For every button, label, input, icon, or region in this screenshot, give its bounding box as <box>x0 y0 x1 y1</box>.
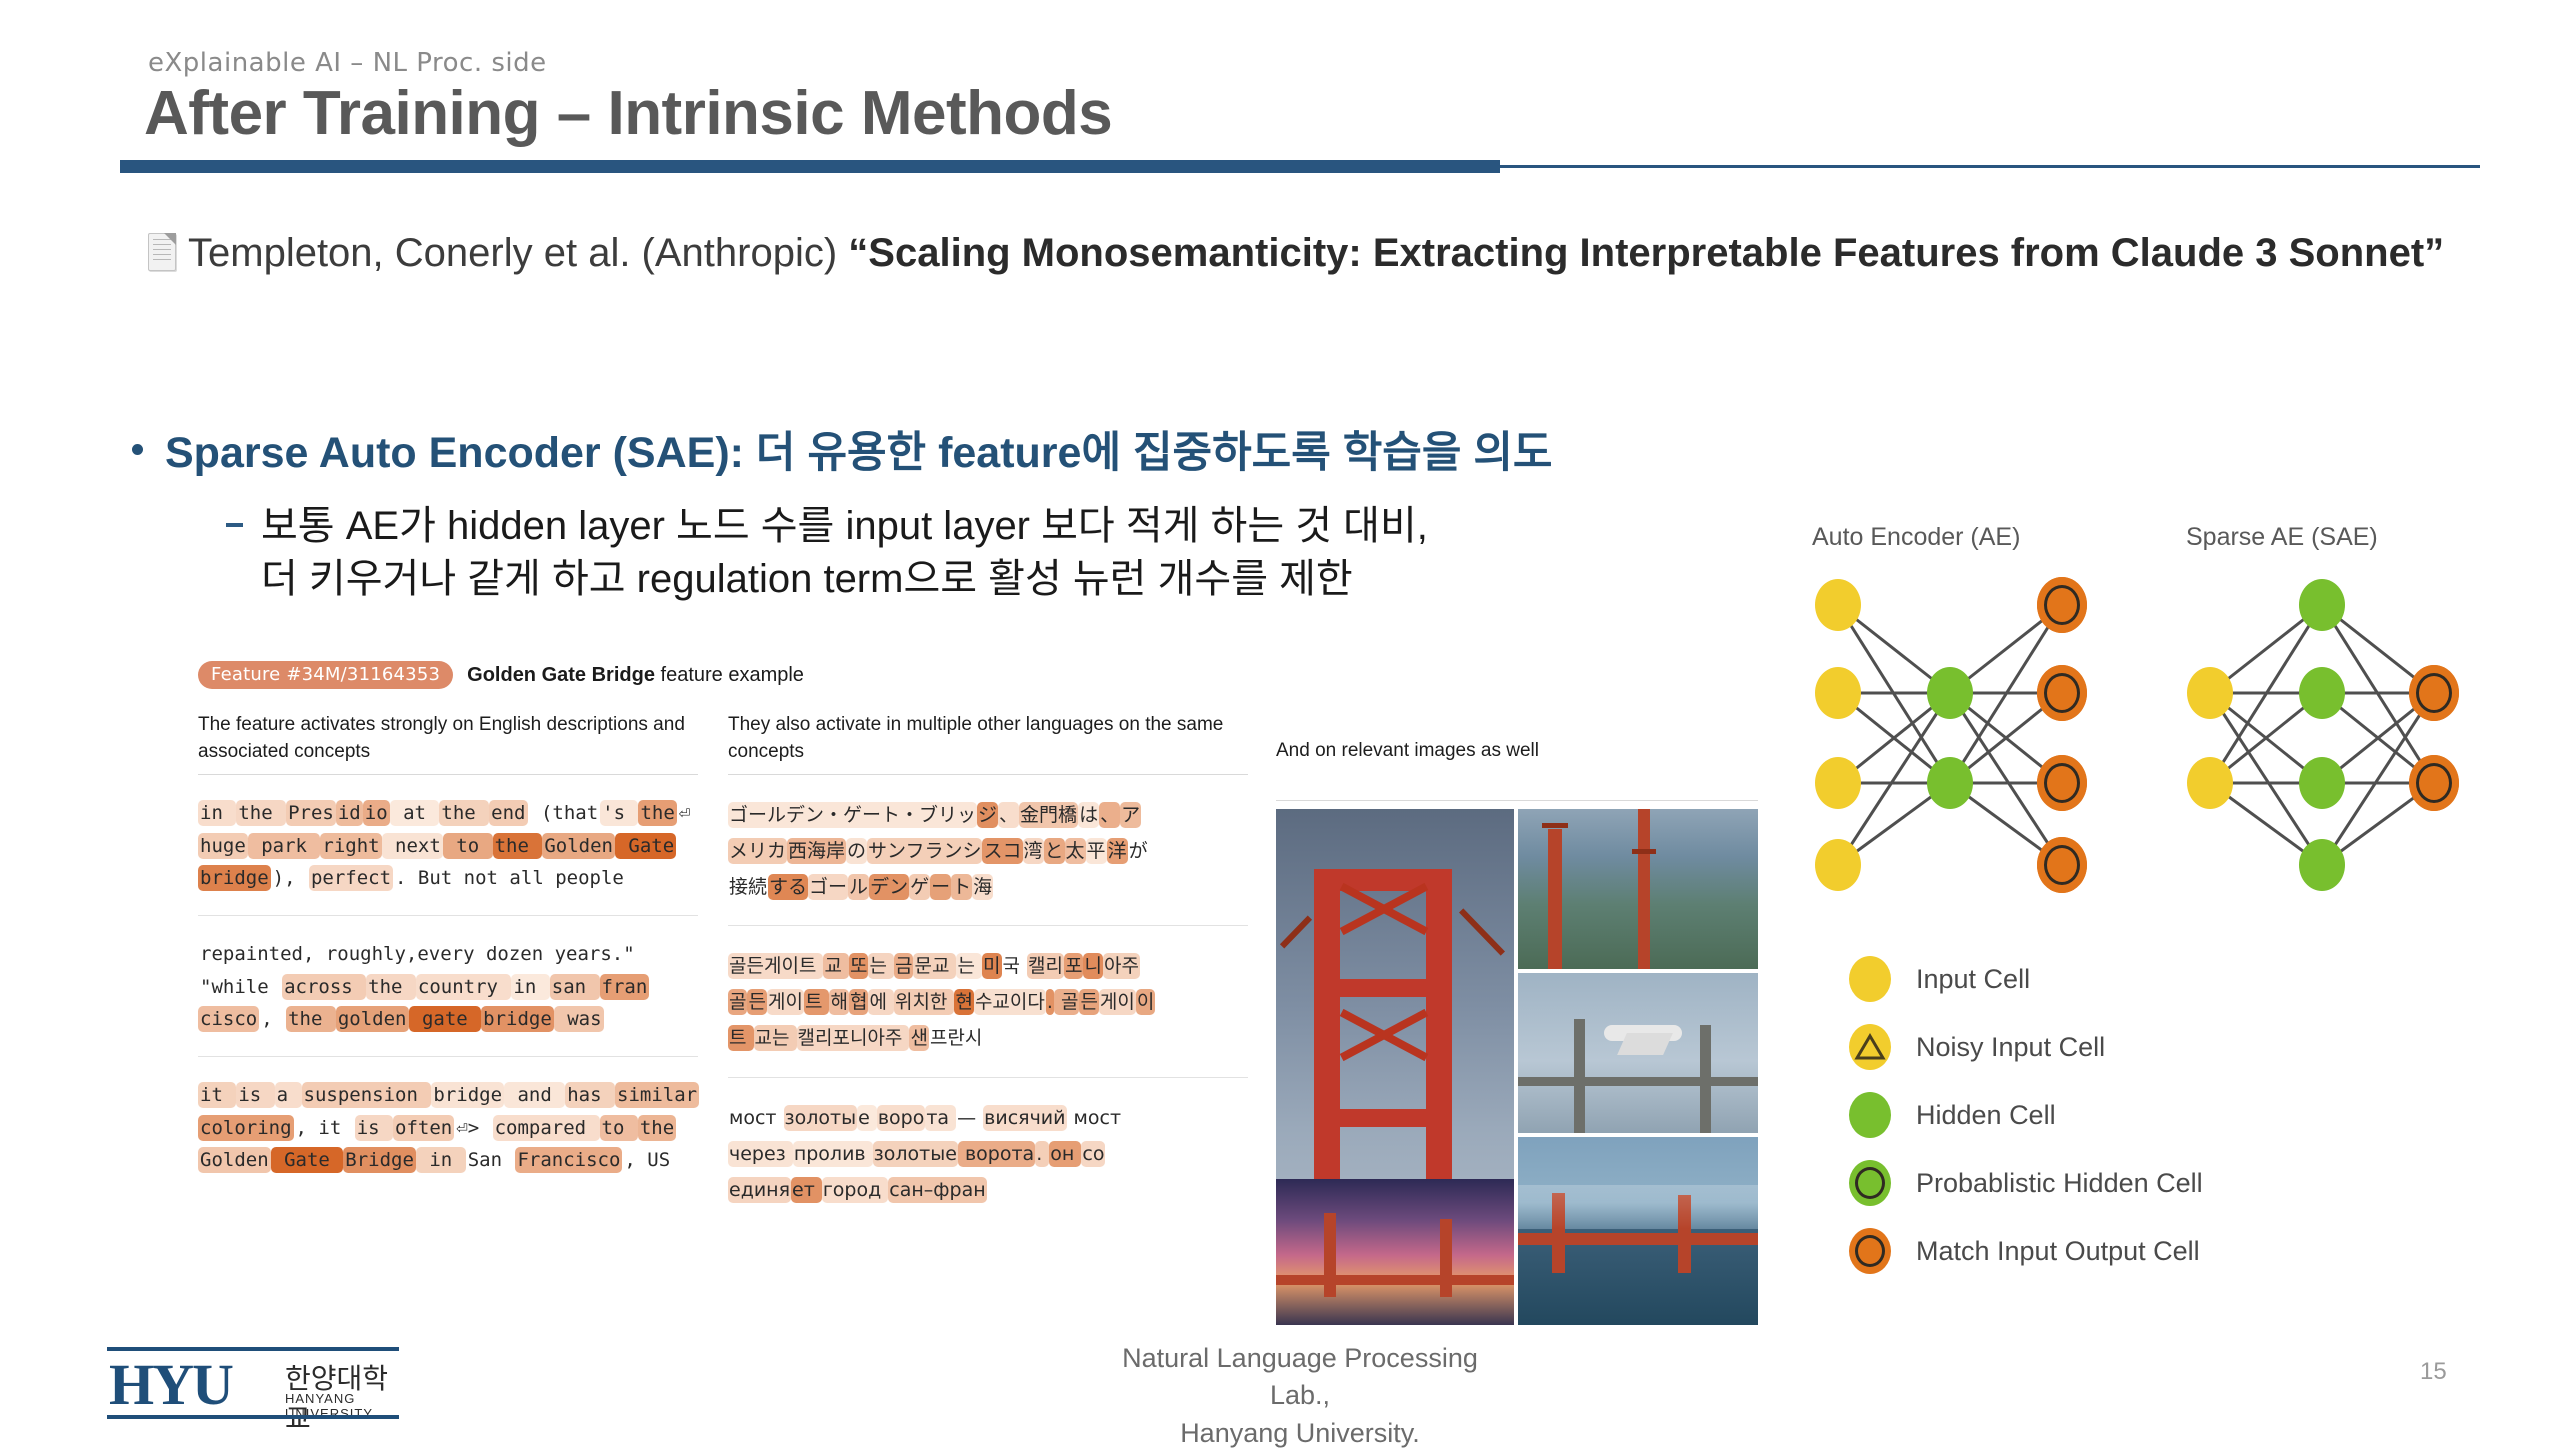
activation-token: 국 <box>1002 953 1028 979</box>
activation-token: san <box>550 974 600 1000</box>
text-line: coloring, it is often⏎> compared to the <box>198 1112 698 1145</box>
activation-token: it <box>198 1082 236 1108</box>
activation-token: 든 <box>1079 989 1098 1015</box>
text-line: 接続するゴールデンゲート海 <box>728 869 1248 905</box>
footer-lab-name: Natural Language Processing Lab., Hanyan… <box>1100 1340 1500 1452</box>
activation-token: fran <box>600 974 650 1000</box>
activation-token: the <box>286 1006 336 1032</box>
column-images: And on relevant images as well <box>1276 712 1758 1325</box>
divider <box>1276 800 1758 801</box>
activation-token: через <box>728 1141 793 1167</box>
activation-token: bridge <box>481 1006 554 1032</box>
ae-output-node <box>2037 665 2087 721</box>
activation-token: Gate <box>615 833 676 859</box>
bullet-level2-line2: 더 키우거나 같게 하고 regulation term으로 활성 뉴런 개수를… <box>261 553 1428 606</box>
sae-output-node <box>2409 665 2459 721</box>
legend-label: Input Cell <box>1916 964 2030 995</box>
citation-authors: Templeton, Conerly et al. (Anthropic) <box>188 231 848 275</box>
ae-network <box>1790 565 2120 895</box>
activation-token: е <box>857 1105 877 1131</box>
legend-label: Match Input Output Cell <box>1916 1236 2200 1267</box>
activation-token: ア <box>1120 802 1141 828</box>
activation-token: мост <box>728 1105 784 1131</box>
activation-token: , US <box>622 1147 672 1173</box>
activation-token: ル <box>848 874 869 900</box>
text-sample: ゴールデン・ゲート・ブリッジ、金門橋は、アメリカ西海岸のサンフランシスコ湾と太平… <box>728 775 1248 926</box>
activation-token: デン <box>869 874 909 900</box>
header-rule-thin <box>1500 165 2480 168</box>
activation-token: 平 <box>1086 838 1107 864</box>
activation-token: Golden <box>198 1147 271 1173</box>
legend-row: Probablistic Hidden Cell <box>1842 1149 2203 1217</box>
column-images-heading: And on relevant images as well <box>1276 712 1758 794</box>
activation-token: 캘리 <box>1027 953 1064 979</box>
activation-token: ⏎ <box>677 800 692 826</box>
text-sample: мост золотые ворота — висячий мостчерез … <box>728 1078 1248 1228</box>
activation-token: and <box>504 1082 565 1108</box>
footer-line-2: Hanyang University. <box>1100 1415 1500 1452</box>
activation-token: Pres <box>286 800 336 826</box>
ae-input-node <box>1815 579 1861 631</box>
activation-token: город <box>822 1177 888 1203</box>
slide-root: eXplainable AI – NL Proc. side After Tra… <box>0 0 2560 1440</box>
activation-token: country <box>416 974 512 1000</box>
activation-token: 아주 <box>1103 953 1140 979</box>
legend-label: Probablistic Hidden Cell <box>1916 1168 2203 1199</box>
activation-token: 太 <box>1065 838 1086 864</box>
activation-token: 교는 <box>754 1025 797 1051</box>
page-title: After Training – Intrinsic Methods <box>144 78 1112 149</box>
activation-token: was <box>554 1006 604 1032</box>
sae-hidden-node <box>2299 757 2345 809</box>
activation-token: ト <box>951 874 972 900</box>
sae-diagram-title: Sparse AE (SAE) <box>2186 523 2378 552</box>
san-francisco-bay-bridge <box>1518 1137 1758 1325</box>
legend-circle-icon <box>1842 1092 1898 1138</box>
activation-token: "while <box>198 974 282 1000</box>
activation-token: compared <box>493 1115 600 1141</box>
activation-token: 골 <box>1054 989 1080 1015</box>
activation-token: the <box>493 833 543 859</box>
feature-title-rest: feature example <box>655 664 804 686</box>
activation-token: in <box>511 974 549 1000</box>
legend-ring-icon <box>1842 1160 1898 1206</box>
text-sample: 골든게이트 교 또는 금문교 는 미국 캘리포니아주골든게이트 해협에 위치한 … <box>728 926 1248 1077</box>
legend-row: Match Input Output Cell <box>1842 1217 2203 1285</box>
sae-hidden-node <box>2299 839 2345 891</box>
activation-token: Bridge <box>343 1147 416 1173</box>
activation-token: 골든게이트 <box>728 953 823 979</box>
dash-icon <box>226 523 243 527</box>
activation-token: と <box>1044 838 1065 864</box>
ae-diagram-title: Auto Encoder (AE) <box>1812 523 2020 552</box>
activation-token: 캘리포니아주 <box>797 1025 910 1051</box>
legend-label: Hidden Cell <box>1916 1100 2056 1131</box>
header-rule-thick <box>120 160 1500 173</box>
activation-token: он <box>1049 1141 1081 1167</box>
activation-token: 위치한 <box>894 989 954 1015</box>
activation-token: right <box>320 833 381 859</box>
activation-token: at <box>390 800 440 826</box>
text-line: 골든게이트 교 또는 금문교 는 미국 캘리포니아주 <box>728 948 1248 984</box>
activation-token: 는 <box>868 953 894 979</box>
activation-token: , <box>259 1006 286 1032</box>
activation-token: 샌 <box>909 1025 928 1051</box>
activation-token: 골 <box>728 989 747 1015</box>
activation-token: — <box>956 1105 983 1131</box>
column-multilingual: They also activate in multiple other lan… <box>728 712 1248 1228</box>
page-facing-up-icon <box>146 232 178 272</box>
activation-token: 포 <box>1064 953 1083 979</box>
bullet-level2: 보통 AE가 hidden layer 노드 수를 input layer 보다… <box>226 500 1428 606</box>
column-multilingual-heading: They also activate in multiple other lan… <box>728 712 1248 768</box>
activation-token: スコ <box>982 838 1022 864</box>
activation-token: 트 <box>804 989 830 1015</box>
activation-token: golden <box>336 1006 409 1032</box>
feature-card: Feature #34M/31164353 Golden Gate Bridge… <box>198 660 1758 1332</box>
activation-token: in <box>416 1147 466 1173</box>
activation-token: bridge <box>198 865 271 891</box>
activation-token: . <box>1046 989 1054 1015</box>
activation-token: gate <box>409 1006 482 1032</box>
activation-token: 현 <box>954 989 973 1015</box>
text-sample: in the Presidio at the end (that's the⏎h… <box>198 775 698 916</box>
activation-token: золотые <box>873 1141 958 1167</box>
activation-token: 해 <box>829 989 848 1015</box>
activation-token: висячий <box>983 1105 1066 1131</box>
bullet-dot-icon <box>132 444 143 455</box>
ae-hidden-node <box>1927 667 1973 719</box>
activation-token: 는 <box>956 953 982 979</box>
activation-token: 협 <box>849 989 868 1015</box>
activation-token: пролив <box>793 1141 873 1167</box>
shuttle-over-bridge <box>1518 973 1758 1133</box>
activation-token: Golden <box>542 833 615 859</box>
english-samples: in the Presidio at the end (that's the⏎h… <box>198 775 698 1197</box>
golden-gate-aerial <box>1518 809 1758 969</box>
activation-token: to <box>600 1115 638 1141</box>
activation-token: Gate <box>271 1147 344 1173</box>
activation-token: は <box>1078 802 1099 828</box>
golden-gate-sunset <box>1276 1179 1514 1325</box>
activation-token: park <box>248 833 321 859</box>
activation-token: 교 <box>823 953 849 979</box>
activation-token: across <box>282 974 366 1000</box>
footer-line-1: Natural Language Processing Lab., <box>1100 1340 1500 1415</box>
bullet-level1-text: Sparse Auto Encoder (SAE): 더 유용한 feature… <box>165 429 1552 477</box>
bullet-level2-line1: 보통 AE가 hidden layer 노드 수를 input layer 보다… <box>261 504 1428 548</box>
legend-row: Input Cell <box>1842 945 2203 1013</box>
sae-output-node <box>2409 755 2459 811</box>
text-line: repainted, roughly,every dozen years." <box>198 938 698 971</box>
column-english: The feature activates strongly on Englis… <box>198 712 698 1197</box>
sae-input-node <box>2187 757 2233 809</box>
ae-hidden-node <box>1927 757 1973 809</box>
activation-token: a <box>275 1082 302 1108</box>
activation-token: 게이 <box>767 989 804 1015</box>
activation-token: next <box>382 833 443 859</box>
activation-token: the <box>236 800 286 826</box>
activation-token: воро <box>877 1105 926 1131</box>
activation-token: サンフランシ <box>867 838 982 864</box>
activation-token: единя <box>728 1177 791 1203</box>
activation-token: io <box>363 800 390 826</box>
activation-token: ), <box>271 865 309 891</box>
activation-token: Francisco <box>515 1147 622 1173</box>
activation-token: . But not all people <box>393 865 626 891</box>
activation-token: сан–фран <box>888 1177 986 1203</box>
autoencoder-diagram: Auto Encoder (AE) Sparse AE (SAE) <box>1790 505 2510 1305</box>
activation-token: 수교이다 <box>974 989 1046 1015</box>
diagram-legend: Input CellNoisy Input CellHidden CellPro… <box>1842 945 2203 1285</box>
activation-token: is <box>355 1115 393 1141</box>
activation-token: 게이 <box>1099 989 1136 1015</box>
legend-row: Noisy Input Cell <box>1842 1013 2203 1081</box>
activation-token: has <box>565 1082 615 1108</box>
hyu-logo-text: HYU <box>109 1351 232 1418</box>
text-line: 골든게이트 해협에 위치한 현수교이다. 골든게이이 <box>728 984 1248 1020</box>
activation-token: . <box>1035 1141 1049 1167</box>
activation-token: in <box>198 800 236 826</box>
activation-token: 에 <box>868 989 894 1015</box>
activation-token: 接続 <box>728 874 768 900</box>
citation-line: Templeton, Conerly et al. (Anthropic) “S… <box>146 228 2476 279</box>
activation-token: мост <box>1067 1105 1123 1131</box>
activation-token: 또 <box>849 953 868 979</box>
activation-token: 트 <box>728 1025 754 1051</box>
activation-token: suspension <box>302 1082 432 1108</box>
ae-input-node <box>1815 839 1861 891</box>
activation-token: ー <box>930 874 951 900</box>
slide-kicker: eXplainable AI – NL Proc. side <box>148 48 547 78</box>
text-line: 트 교는 캘리포니아주 샌프란시 <box>728 1020 1248 1056</box>
activation-token: 湾 <box>1023 838 1044 864</box>
legend-row: Hidden Cell <box>1842 1081 2203 1149</box>
activation-token: ⏎> <box>454 1115 492 1141</box>
activation-token: perfect <box>309 865 393 891</box>
ae-input-node <box>1815 757 1861 809</box>
activation-token: 洋 <box>1107 838 1128 864</box>
ae-input-node <box>1815 667 1861 719</box>
activation-token: が <box>1128 838 1149 864</box>
activation-token: 문교 <box>913 953 956 979</box>
legend-triangle-icon <box>1842 1024 1898 1070</box>
activation-token: 、 <box>998 802 1019 828</box>
text-line: Golden Gate Bridge in San Francisco, US <box>198 1144 698 1177</box>
text-line: "while across the country in san fran <box>198 971 698 1004</box>
column-english-heading: The feature activates strongly on Englis… <box>198 712 698 768</box>
text-line: cisco, the golden gate bridge was <box>198 1003 698 1036</box>
image-mosaic <box>1276 809 1758 1325</box>
text-sample: it is a suspension bridge and has simila… <box>198 1057 698 1197</box>
multilingual-samples: ゴールデン・ゲート・ブリッジ、金門橋は、アメリカ西海岸のサンフランシスコ湾と太平… <box>728 775 1248 1228</box>
legend-circle-icon <box>1842 956 1898 1002</box>
feature-card-header: Feature #34M/31164353 Golden Gate Bridge… <box>198 660 1758 690</box>
activation-token: 니 <box>1083 953 1102 979</box>
sae-input-node <box>2187 667 2233 719</box>
text-line: через пролив золотые ворота. он со <box>728 1136 1248 1172</box>
activation-token: 미 <box>982 953 1001 979</box>
activation-token: золоты <box>784 1105 858 1131</box>
activation-token: ет <box>791 1177 822 1203</box>
bullet-level1: Sparse Auto Encoder (SAE): 더 유용한 feature… <box>132 418 1552 480</box>
activation-token: の <box>846 838 867 864</box>
activation-token: та <box>925 1105 956 1131</box>
activation-token: (that <box>528 800 601 826</box>
feature-title-bold: Golden Gate Bridge <box>467 664 655 686</box>
activation-token: id <box>336 800 363 826</box>
activation-token: similar <box>615 1082 699 1108</box>
activation-token: to <box>443 833 493 859</box>
activation-token: ゲ <box>909 874 930 900</box>
text-line: in the Presidio at the end (that's the⏎ <box>198 797 698 830</box>
feature-id-badge: Feature #34M/31164353 <box>198 661 453 689</box>
sae-hidden-node <box>2299 579 2345 631</box>
page-number: 15 <box>2420 1358 2447 1386</box>
activation-token: repainted, roughly,every dozen years." <box>198 941 637 967</box>
activation-token: 西海岸 <box>787 838 846 864</box>
citation-paper-title: “Scaling Monosemanticity: Extracting Int… <box>848 231 2444 275</box>
activation-token: the <box>638 1115 676 1141</box>
activation-token: San <box>466 1147 516 1173</box>
activation-token: する <box>768 874 808 900</box>
activation-token: often <box>393 1115 454 1141</box>
activation-token: メリカ <box>728 838 787 864</box>
ae-output-node <box>2037 755 2087 811</box>
text-line: единяет город сан–фран <box>728 1172 1248 1208</box>
activation-token: ゴー <box>808 874 848 900</box>
text-line: it is a suspension bridge and has simila… <box>198 1079 698 1112</box>
sae-hidden-node <box>2299 667 2345 719</box>
activation-token: со <box>1081 1141 1105 1167</box>
activation-token: 海 <box>972 874 993 900</box>
text-line: мост золотые ворота — висячий мост <box>728 1100 1248 1136</box>
activation-token: the <box>366 974 416 1000</box>
legend-label: Noisy Input Cell <box>1916 1032 2105 1063</box>
activation-token: coloring <box>198 1115 294 1141</box>
sae-network <box>2162 565 2492 895</box>
activation-token: 금 <box>894 953 913 979</box>
activation-token: the <box>439 800 489 826</box>
activation-token: 이 <box>1136 989 1155 1015</box>
activation-token: the <box>638 800 676 826</box>
legend-ring-icon <box>1842 1228 1898 1274</box>
text-line: huge park right next to the Golden Gate <box>198 830 698 863</box>
activation-token: ゴールデン・ゲート・ブリッ <box>728 802 977 828</box>
activation-token: bridge <box>431 1082 504 1108</box>
activation-token: , it <box>294 1115 355 1141</box>
ae-output-node <box>2037 837 2087 893</box>
text-line: bridge), perfect. But not all people <box>198 862 698 895</box>
activation-token: 프란시 <box>929 1025 983 1051</box>
ae-output-node <box>2037 577 2087 633</box>
feature-columns: The feature activates strongly on Englis… <box>198 712 1758 1332</box>
activation-token: end <box>489 800 527 826</box>
activation-token: 's <box>600 800 638 826</box>
text-line: メリカ西海岸のサンフランシスコ湾と太平洋が <box>728 833 1248 869</box>
activation-token: ジ <box>977 802 998 828</box>
hyu-logo: HYU 한양대학교 HANYANG UNIVERSITY <box>105 1345 405 1423</box>
activation-token: 、 <box>1099 802 1120 828</box>
activation-token: 든 <box>747 989 766 1015</box>
text-line: ゴールデン・ゲート・ブリッジ、金門橋は、ア <box>728 797 1248 833</box>
feature-card-title: Golden Gate Bridge feature example <box>467 664 804 687</box>
activation-token: ворота <box>958 1141 1035 1167</box>
activation-token: is <box>236 1082 274 1108</box>
activation-token: 金門橋 <box>1019 802 1078 828</box>
activation-token: cisco <box>198 1006 259 1032</box>
activation-token: huge <box>198 833 248 859</box>
text-sample: repainted, roughly,every dozen years.""w… <box>198 916 698 1057</box>
